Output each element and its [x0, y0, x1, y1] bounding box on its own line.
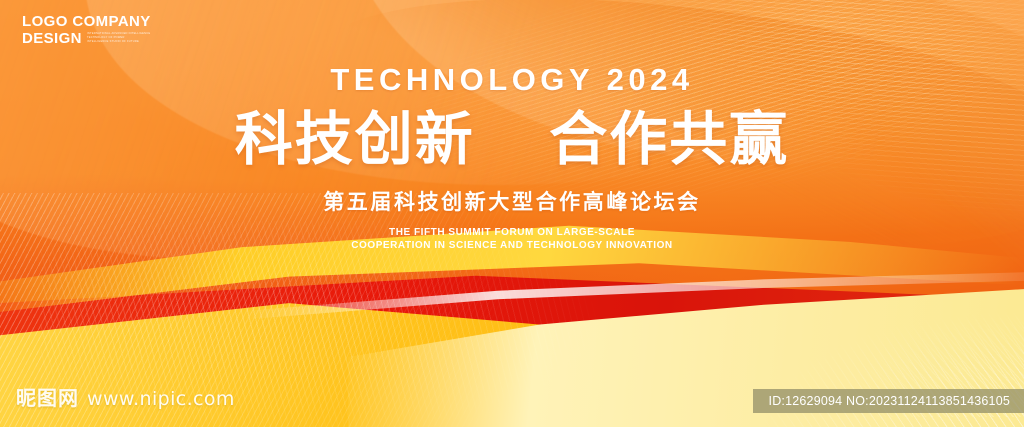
english-subtitle: THE FIFTH SUMMIT FORUM ON LARGE-SCALE CO…	[0, 226, 1024, 252]
brand-logo: LOGO COMPANY DESIGN INTERNATIONAL ADVANC…	[22, 14, 151, 47]
watermark-site-url: www.nipic.com	[87, 388, 235, 410]
headline-block: TECHNOLOGY 2024 科技创新 合作共赢 第五届科技创新大型合作高峰论…	[0, 62, 1024, 252]
watermark-site-name: 昵图网	[16, 382, 79, 411]
english-subtitle-line-2: COOPERATION IN SCIENCE AND TECHNOLOGY IN…	[0, 239, 1024, 252]
poster-canvas: LOGO COMPANY DESIGN INTERNATIONAL ADVANC…	[0, 0, 1024, 427]
site-watermark: 昵图网 www.nipic.com	[16, 382, 235, 411]
logo-second-row: DESIGN INTERNATIONAL ADVANCED INTELLIGEN…	[22, 30, 151, 47]
logo-micro-text: INTERNATIONAL ADVANCED INTELLIGENCE TECH…	[87, 30, 150, 44]
asset-id-badge: ID:12629094 NO:20231124113851436105	[753, 389, 1024, 413]
headline-part-right: 合作共赢	[549, 105, 789, 173]
logo-line-1: LOGO COMPANY	[22, 14, 151, 30]
headline-part-left: 科技创新	[235, 105, 475, 173]
english-subtitle-line-1: THE FIFTH SUMMIT FORUM ON LARGE-SCALE	[0, 226, 1024, 239]
kicker-text: TECHNOLOGY 2024	[0, 62, 1024, 98]
logo-micro-line-3: INTELLIGENCE STUDIO OF FUTURE	[87, 40, 150, 44]
subtitle-text: 第五届科技创新大型合作高峰论坛会	[0, 186, 1024, 216]
main-headline: 科技创新 合作共赢	[0, 108, 1024, 170]
logo-line-2: DESIGN	[22, 30, 82, 47]
